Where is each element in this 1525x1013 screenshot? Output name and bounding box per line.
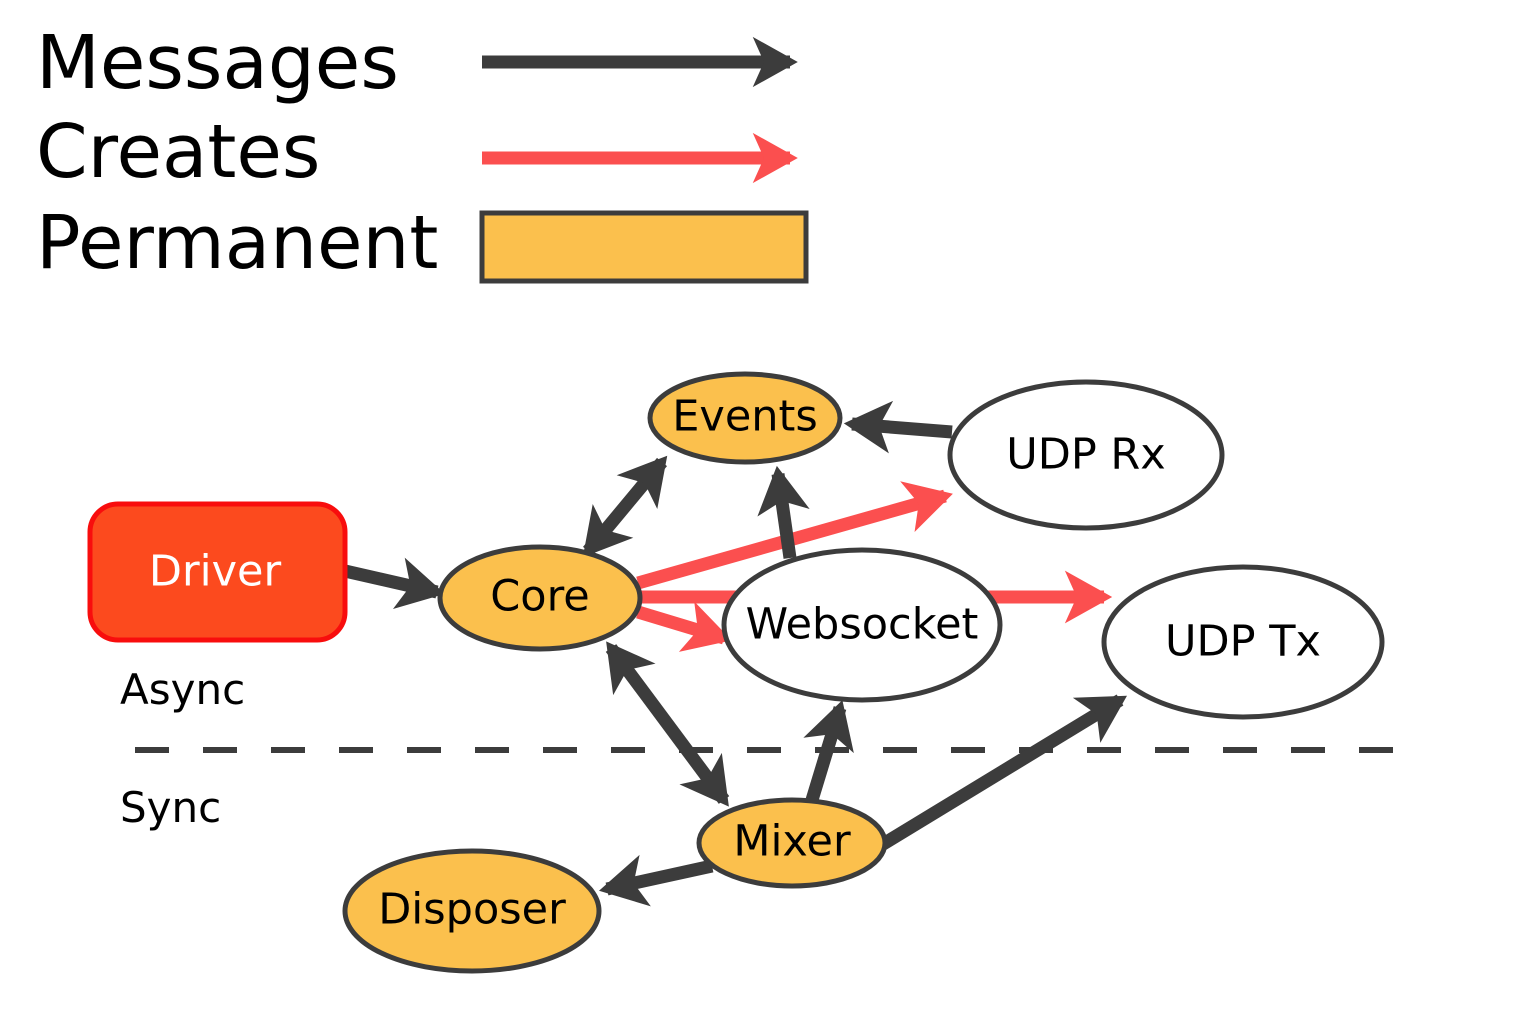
node-label-websocket: Websocket bbox=[746, 600, 979, 650]
legend-label-messages: Messages bbox=[36, 20, 399, 106]
node-label-core: Core bbox=[490, 572, 590, 622]
edge-udp-rx-to-events-messages bbox=[852, 424, 952, 432]
legend-row-creates: Creates bbox=[36, 109, 790, 195]
zone-label-sync: Sync bbox=[120, 783, 221, 832]
node-disposer[interactable]: Disposer bbox=[345, 851, 599, 971]
edge-driver-to-core-messages bbox=[345, 571, 437, 592]
node-label-disposer: Disposer bbox=[378, 885, 566, 935]
legend-row-messages: Messages bbox=[36, 20, 790, 106]
edge-mixer-to-udp-tx-messages bbox=[880, 700, 1120, 846]
edge-mixer-to-disposer-messages bbox=[607, 866, 712, 889]
zone-label-async: Async bbox=[120, 665, 245, 714]
node-udp-tx[interactable]: UDP Tx bbox=[1104, 567, 1382, 717]
edge-core-mixer-messages bbox=[611, 648, 724, 800]
node-label-mixer: Mixer bbox=[733, 817, 851, 867]
node-core[interactable]: Core bbox=[440, 547, 640, 649]
legend: Messages Creates Permanent bbox=[36, 20, 806, 286]
node-label-events: Events bbox=[672, 392, 818, 442]
architecture-diagram: Messages Creates Permanent Async Sync bbox=[0, 0, 1525, 1013]
node-label-driver: Driver bbox=[149, 547, 282, 597]
node-udp-rx[interactable]: UDP Rx bbox=[950, 382, 1222, 528]
node-events[interactable]: Events bbox=[650, 374, 840, 462]
node-label-udp-tx: UDP Tx bbox=[1165, 617, 1321, 667]
node-mixer[interactable]: Mixer bbox=[699, 800, 885, 886]
edge-mixer-to-websocket-messages bbox=[812, 708, 840, 800]
diagram-canvas: Messages Creates Permanent Async Sync bbox=[0, 0, 1525, 1013]
node-driver[interactable]: Driver bbox=[90, 504, 345, 640]
legend-row-permanent: Permanent bbox=[36, 200, 806, 286]
legend-label-permanent: Permanent bbox=[36, 200, 438, 286]
edge-core-events-messages bbox=[588, 462, 662, 551]
edge-core-to-websocket-creates bbox=[638, 612, 724, 638]
legend-swatch-permanent-box bbox=[482, 213, 806, 281]
node-websocket[interactable]: Websocket bbox=[724, 550, 1000, 700]
node-label-udp-rx: UDP Rx bbox=[1006, 430, 1166, 480]
legend-label-creates: Creates bbox=[36, 109, 320, 195]
